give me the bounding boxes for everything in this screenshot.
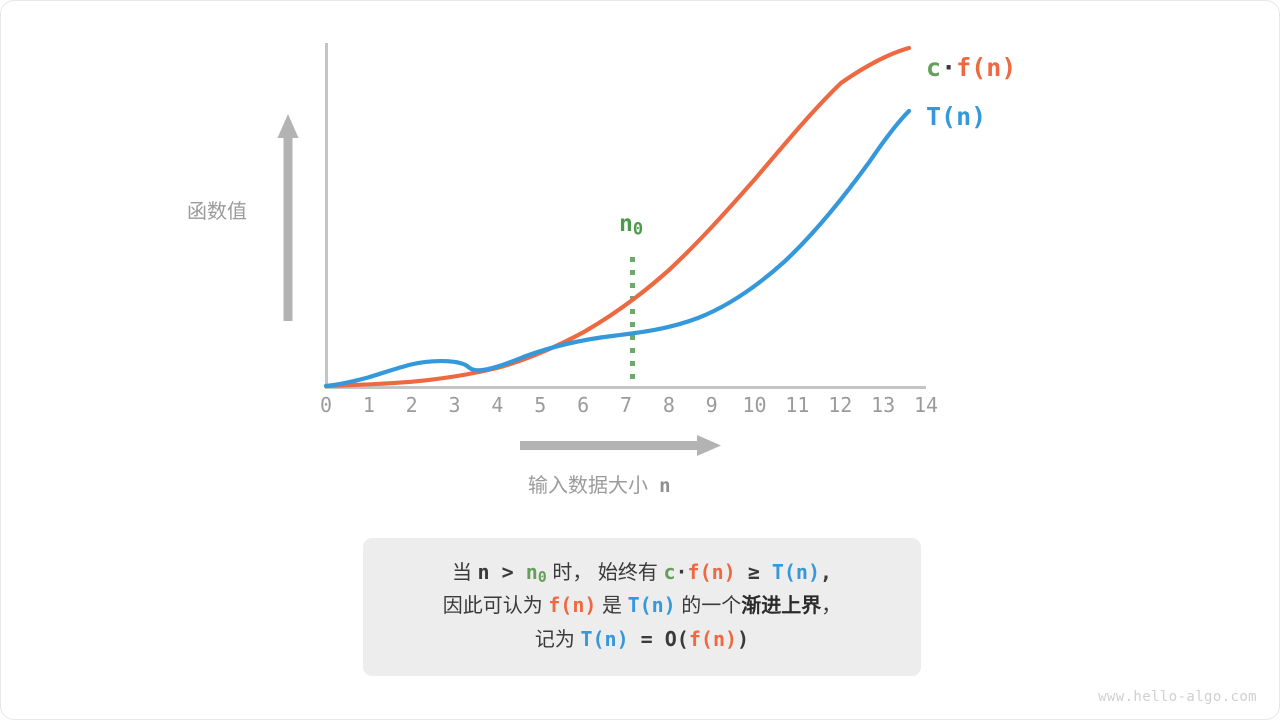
legend-label-t-n: T(n) (926, 102, 986, 131)
legend-c-symbol: c (926, 53, 941, 82)
x-axis-label: 输入数据大小 n (528, 476, 671, 496)
callout-l3-eq: = (629, 627, 665, 651)
callout-l1-dot: · (675, 560, 687, 584)
callout-l1-t2: 时， 始终有 (547, 562, 664, 584)
callout-l1-n0-sub: 0 (538, 568, 547, 586)
x-direction-arrow (520, 435, 721, 456)
callout-l2-t1: 因此可认为 (443, 595, 549, 617)
watermark: www.hello-algo.com (1098, 689, 1257, 705)
callout-l2-f: f(n) (548, 593, 596, 617)
callout-l2-t3: 的一个 (676, 595, 742, 617)
x-tick-4: 4 (491, 395, 503, 415)
callout-l1-n: n (478, 560, 490, 584)
legend-dot-symbol: · (941, 53, 956, 82)
x-tick-3: 3 (449, 395, 461, 415)
legend-fn-symbol: f(n) (956, 53, 1016, 82)
n0-subscript: 0 (633, 220, 643, 240)
callout-l1-gt: > (490, 560, 526, 584)
curve-c-f-n (326, 48, 909, 386)
figure-canvas: c·f(n) T(n) n0 函数值 输入数据大小 n 012345678910… (0, 0, 1280, 720)
callout-l1-f: f(n) (688, 560, 736, 584)
x-tick-13: 13 (871, 395, 895, 415)
callout-l3-t: T(n) (580, 627, 628, 651)
callout-l1-t1: 当 (452, 562, 478, 584)
x-tick-6: 6 (577, 395, 589, 415)
callout-l2-t2: 是 (596, 595, 627, 617)
callout-l1-ge: ≥ (736, 560, 772, 584)
callout-l1-c: c (663, 560, 675, 584)
x-tick-5: 5 (534, 395, 546, 415)
callout-line-1: 当 n > n0 时， 始终有 c·f(n) ≥ T(n), (363, 556, 921, 589)
callout-l2-bold: 渐进上界 (741, 595, 821, 617)
callout-l1-t: T(n) (772, 560, 820, 584)
x-tick-1: 1 (363, 395, 375, 415)
x-axis-tick-labels: 01234567891011121314 (326, 395, 926, 423)
x-tick-10: 10 (743, 395, 767, 415)
callout-l3-t1: 记为 (535, 629, 581, 651)
callout-l1-n0-base: n (526, 560, 538, 584)
n0-base: n (619, 211, 633, 237)
x-tick-9: 9 (706, 395, 718, 415)
x-tick-7: 7 (620, 395, 632, 415)
x-tick-8: 8 (663, 395, 675, 415)
callout-l3-o-open: O( (665, 627, 689, 651)
callout-l1-comma: , (820, 560, 832, 584)
x-tick-14: 14 (914, 395, 938, 415)
legend-label-c-f-n: c·f(n) (926, 53, 1016, 82)
x-axis-label-var: n (659, 475, 670, 497)
x-tick-11: 11 (785, 395, 809, 415)
x-tick-0: 0 (320, 395, 332, 415)
n0-marker-label: n0 (619, 213, 643, 239)
callout-l3-o-close: ) (737, 627, 749, 651)
y-direction-arrow (278, 114, 299, 321)
y-axis-label: 函数值 (187, 202, 247, 222)
x-axis-label-text: 输入数据大小 (528, 475, 648, 497)
curve-t-n (326, 111, 909, 386)
callout-box: 当 n > n0 时， 始终有 c·f(n) ≥ T(n), 因此可认为 f(n… (363, 538, 921, 676)
x-tick-12: 12 (828, 395, 852, 415)
callout-l2-t: T(n) (628, 593, 676, 617)
callout-line-2: 因此可认为 f(n) 是 T(n) 的一个渐进上界， (363, 589, 921, 622)
x-tick-2: 2 (406, 395, 418, 415)
callout-l2-comma: ， (821, 595, 841, 617)
callout-l3-f: f(n) (689, 627, 737, 651)
callout-line-3: 记为 T(n) = O(f(n)) (363, 623, 921, 656)
